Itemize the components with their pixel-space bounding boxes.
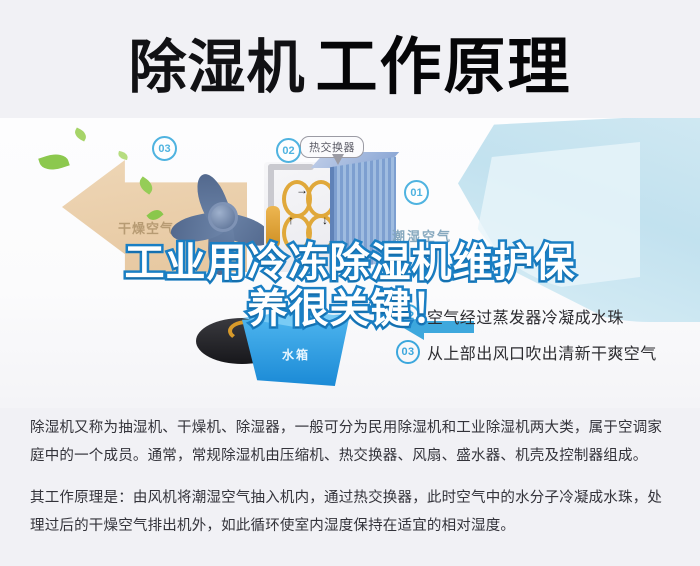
flow-arrow-icon: ↑ [288, 214, 294, 226]
callout-pointer-icon [332, 154, 344, 165]
step-badge-03: 03 [396, 340, 420, 364]
step-badge-02: 02 [396, 304, 420, 328]
body-paragraph-1: 除湿机又称为抽湿机、干燥机、除湿器，一般可分为民用除湿机和工业除湿机两大类，属于… [30, 414, 676, 470]
leaf-icon [73, 127, 89, 141]
badge-03: 03 [152, 136, 177, 161]
body-paragraph-2: 其工作原理是：由风机将潮湿空气抽入机内，通过热交换器，此时空气中的水分子冷凝成水… [30, 484, 676, 540]
step-line-03: 03 从上部出风口吹出清新干爽空气 [396, 340, 657, 364]
heat-exchanger-fins [330, 157, 396, 271]
page-title-primary: 除湿机 [128, 39, 305, 97]
badge-02: 02 [276, 138, 301, 163]
flow-arrow-icon: ↓ [322, 214, 328, 226]
refrigerant-cylinder [266, 206, 280, 248]
page-header: 除湿机 工作原理 [0, 22, 700, 114]
leaf-icon [38, 150, 70, 174]
fan-hub [208, 202, 238, 232]
step-text-02: 空气经过蒸发器冷凝成水珠 [427, 304, 624, 328]
page-title-secondary: 工作原理 [316, 37, 572, 99]
dehumidifier-diagram: 干燥空气 → ↑ ↓ 热交换器 01 02 03 潮湿空气 [0, 118, 700, 408]
flow-arrow-icon: → [296, 184, 308, 196]
step-text-03: 从上部出风口吹出清新干爽空气 [427, 340, 657, 364]
leaf-icon [117, 151, 128, 160]
infographic-page: 除湿机 工作原理 干燥空气 → ↑ ↓ [0, 0, 700, 566]
dry-air-label: 干燥空气 [118, 218, 174, 237]
badge-01: 01 [404, 180, 429, 205]
step-line-02: 02 空气经过蒸发器冷凝成水珠 [396, 304, 624, 328]
water-tank-label: 水箱 [282, 346, 310, 363]
humid-air-label: 潮湿空气 [392, 226, 452, 245]
body-copy: 除湿机又称为抽湿机、干燥机、除湿器，一般可分为民用除湿机和工业除湿机两大类，属于… [30, 414, 676, 554]
refrigerant-pipe [268, 164, 314, 170]
